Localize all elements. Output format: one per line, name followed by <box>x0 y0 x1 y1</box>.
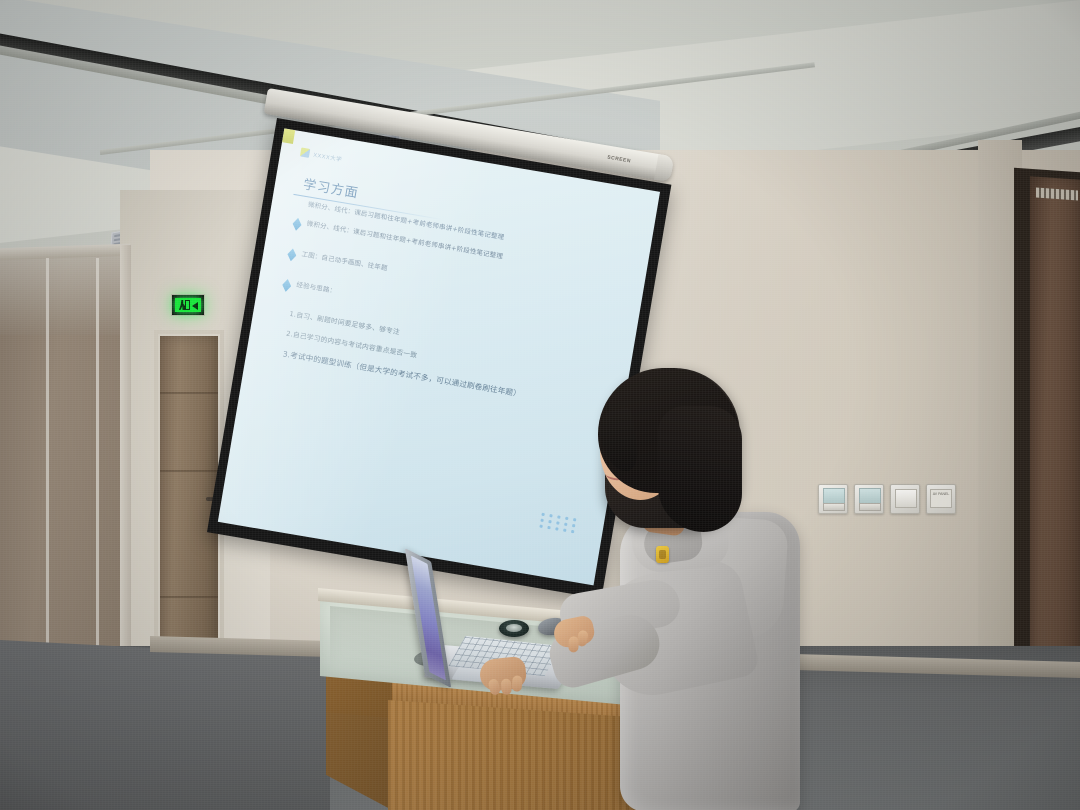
arrow-right-icon <box>192 302 198 310</box>
floor-left-section <box>0 640 330 810</box>
left-door-panel-line-2 <box>160 470 218 472</box>
slide-logo-accent <box>282 128 295 144</box>
blank-plate-face <box>895 489 917 508</box>
presenter <box>540 360 860 810</box>
light-switch-2-rocker-lower[interactable] <box>859 503 881 511</box>
slide-bullet-text: 经验与思路： <box>296 280 337 297</box>
left-partition-glass <box>0 255 128 335</box>
diamond-bullet-icon <box>281 278 292 292</box>
university-logo-icon <box>300 147 310 157</box>
left-door-panel-line-3 <box>160 596 218 598</box>
partition-seam-2 <box>96 258 99 673</box>
left-door-panel-line-1 <box>160 392 218 394</box>
photo-scene: AV PANEL SCREEN XXXX大学 学习方面 微积分、线代：课后习题和… <box>0 0 1080 810</box>
finger <box>568 636 579 652</box>
diamond-bullet-icon <box>286 248 297 262</box>
puck-device[interactable] <box>499 620 529 637</box>
presenter-hair-side <box>658 406 742 532</box>
exit-door-icon <box>185 300 190 310</box>
control-panel-label: AV PANEL <box>930 489 952 508</box>
slide-org-name: XXXX大学 <box>313 150 343 163</box>
partition-seam-1 <box>46 258 49 673</box>
slide-bullet-text: 工图：自己动手画图、往年题 <box>301 249 389 273</box>
screen-brand-label: SCREEN <box>607 155 632 165</box>
finger <box>501 678 512 695</box>
exit-sign-face <box>175 298 201 312</box>
presenter-hand-on-keyboard <box>478 656 527 693</box>
diamond-bullet-icon <box>292 217 303 231</box>
blank-plate <box>890 484 920 514</box>
left-column <box>120 245 131 685</box>
control-panel[interactable]: AV PANEL <box>926 484 956 514</box>
right-door[interactable] <box>1030 176 1080 671</box>
exit-sign <box>171 294 205 316</box>
presenter-badge <box>656 546 669 563</box>
finger <box>512 675 523 692</box>
